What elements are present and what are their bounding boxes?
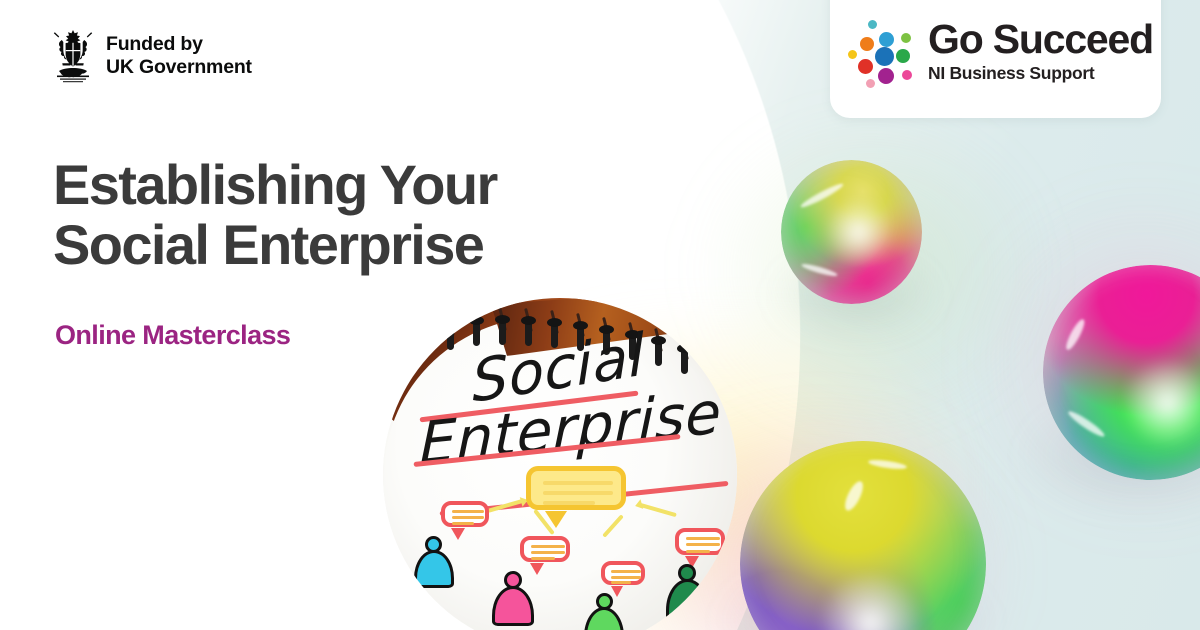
page-title: Establishing Your Social Enterprise [53,155,497,275]
sphere-small-top [781,160,922,304]
notepad-photo: Social Enterprise [383,298,737,630]
speech-bubble-dark-green [675,528,725,555]
page-subtitle: Online Masterclass [55,319,290,351]
funded-by-text: Funded by UK Government [106,33,252,79]
brand-tagline: NI Business Support [928,63,1153,83]
go-succeed-wordmark: Go Succeed NI Business Support [928,18,1153,83]
banner-canvas: Social Enterprise [0,0,1200,630]
speech-bubble-pink [520,536,570,562]
page-title-line1: Establishing Your [53,153,497,216]
uk-royal-coat-of-arms-icon [50,28,96,84]
speech-bubble-green [601,561,645,585]
page-title-line2: Social Enterprise [53,215,497,275]
go-succeed-dot-cluster-icon [848,20,922,86]
funded-by-line2: UK Government [106,56,252,79]
central-speech-bubble [526,466,626,510]
speech-bubble-blue [441,501,489,527]
funded-by-line1: Funded by [106,33,252,56]
go-succeed-logo-card[interactable]: Go Succeed NI Business Support [830,0,1161,118]
funded-by-uk-government-lockup: Funded by UK Government [50,28,252,84]
brand-name: Go Succeed [928,18,1153,60]
